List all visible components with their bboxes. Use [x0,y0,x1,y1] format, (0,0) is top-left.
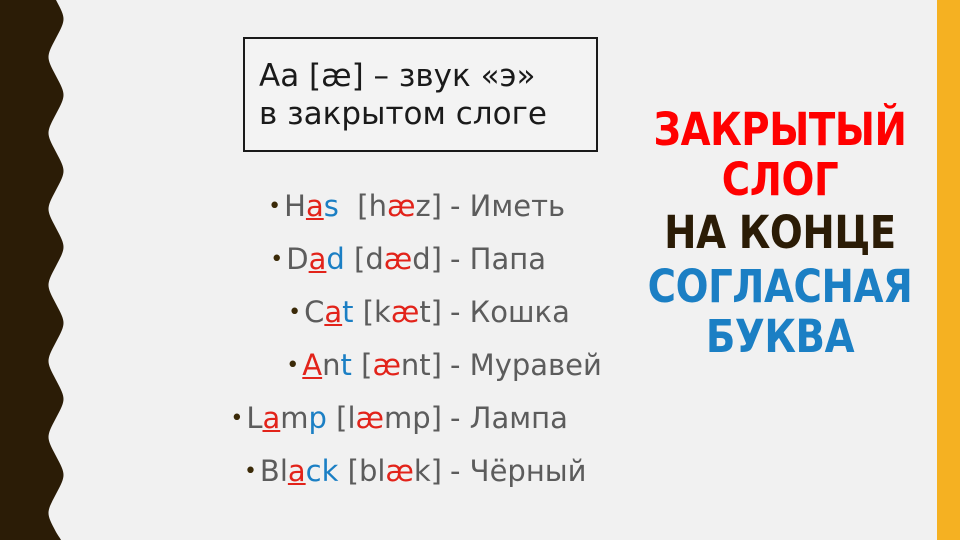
transcription-segment: [ [361,348,372,382]
word-segment: n [322,348,340,382]
transcription-segment-vowel: æ [372,348,400,382]
transcription-segment: t] [419,295,442,329]
transcription-segment-vowel: æ [356,401,384,435]
translation: - Кошка [450,286,620,339]
heading-line-zakrytyy: ЗАКРЫТЫЙ [642,108,917,151]
transcription: [blæk] [348,454,442,488]
word-segment: D [286,242,308,276]
bullet-icon: • [244,459,257,484]
word-row: •Dad [dæd] - Папа [150,233,620,286]
word-segment-consonant: p [309,401,327,435]
word-row: •Cat [kæt] - Кошка [150,286,620,339]
word-row: •Lamp [læmp] - Лампа [150,392,620,445]
transcription-segment-vowel: æ [384,242,412,276]
heading-line-slog: СЛОГ [642,158,917,201]
transcription-segment: [h [357,189,387,223]
transcription-segment: d] [412,242,442,276]
bullet-icon: • [268,194,281,219]
word-segment-consonant: t [341,348,352,382]
bullet-icon: • [270,247,283,272]
english-word: Black [260,454,338,488]
translation: - Папа [450,233,620,286]
word-segment: m [280,401,308,435]
word-list: •Has [hæz] - Иметь •Dad [dæd] - Папа •Ca… [150,180,620,498]
heading-line-bukva: БУКВА [642,315,917,358]
rule-heading-block: ЗАКРЫТЫЙ СЛОГ НА КОНЦЕ СОГЛАСНАЯ БУКВА [620,108,940,358]
heading-line-soglasnaya: СОГЛАСНАЯ [642,265,917,308]
transcription-segment-vowel: æ [387,189,415,223]
word-and-transcription: •Dad [dæd] [150,233,450,286]
word-segment-consonant: s [324,189,339,223]
translation: - Иметь [450,180,620,233]
bullet-icon: • [288,300,301,325]
transcription: [ænt] [361,348,442,382]
english-word: Has [284,189,339,223]
translation: - Муравей [450,339,620,392]
rule-title-line-2: в закрытом слоге [259,96,586,134]
left-wavy-band-decoration [0,0,70,540]
transcription-segment: mp] [384,401,442,435]
word-segment-vowel: a [306,189,324,223]
word-segment-vowel: a [324,295,342,329]
word-and-transcription: •Has [hæz] [150,180,450,233]
transcription-segment: [d [354,242,384,276]
transcription: [læmp] [336,401,442,435]
word-and-transcription: •Lamp [læmp] [150,392,450,445]
heading-line-na-kontse: НА КОНЦЕ [642,211,917,254]
word-segment: Bl [260,454,288,488]
transcription: [kæt] [363,295,442,329]
word-segment-consonant: d [326,242,344,276]
transcription-segment: nt] [401,348,442,382]
right-yellow-band-decoration [937,0,960,540]
word-row: •Black [blæk] - Чёрный [150,445,620,498]
word-segment-consonant: t [342,295,353,329]
word-segment: C [304,295,324,329]
transcription-segment: z] [415,189,442,223]
transcription: [hæz] [357,189,442,223]
transcription-segment: k] [414,454,442,488]
word-and-transcription: •Cat [kæt] [150,286,450,339]
english-word: Lamp [246,401,327,435]
word-segment-vowel: a [309,242,327,276]
word-segment: H [284,189,306,223]
transcription-segment-vowel: æ [391,295,419,329]
bullet-icon: • [230,406,243,431]
left-wavy-band-shape [0,0,70,540]
english-word: Ant [302,348,352,382]
transcription-segment: [l [336,401,355,435]
word-and-transcription: •Ant [ænt] [150,339,450,392]
slide-canvas: Aa [æ] – звук «э» в закрытом слоге •Has … [0,0,960,540]
word-segment-vowel: a [262,401,280,435]
translation: - Лампа [450,392,620,445]
transcription-segment: [bl [348,454,386,488]
word-segment-consonant: ck [306,454,339,488]
english-word: Dad [286,242,345,276]
transcription-segment: [k [363,295,391,329]
word-segment-vowel: a [288,454,306,488]
transcription-segment-vowel: æ [385,454,413,488]
transcription: [dæd] [354,242,442,276]
word-row: •Ant [ænt] - Муравей [150,339,620,392]
word-segment: L [246,401,262,435]
word-row: •Has [hæz] - Иметь [150,180,620,233]
rule-title-line-1: Aa [æ] – звук «э» [259,58,586,96]
word-segment-vowel: A [302,348,322,382]
translation: - Чёрный [450,445,620,498]
word-and-transcription: •Black [blæk] [150,445,450,498]
english-word: Cat [304,295,353,329]
rule-title-box: Aa [æ] – звук «э» в закрытом слоге [243,37,598,152]
bullet-icon: • [286,353,299,378]
